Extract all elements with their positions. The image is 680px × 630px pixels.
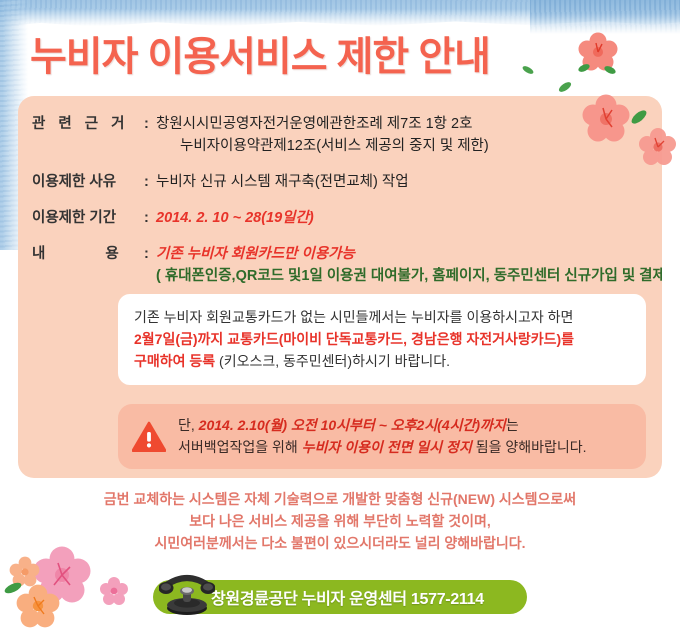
row-value-legal-basis: 창원시시민공영자전거운영에관한조례 제7조 1항 2호 누비자이용약관제12조(… — [156, 113, 489, 157]
warning-line1-date: 2014. 2.10(월) 오전 10시부터 ~ 오후2시(4시간)까지 — [199, 417, 506, 433]
telephone-icon — [159, 570, 215, 618]
warning-line1-suffix: 는 — [506, 417, 519, 433]
info-row-legal-basis: 관 련 근 거 : 창원시시민공영자전거운영에관한조례 제7조 1항 2호 누비… — [18, 113, 662, 157]
row-colon: : — [144, 113, 156, 135]
warning-box: 단, 2014. 2.10(월) 오전 10시부터 ~ 오후2시(4시간)까지는… — [118, 404, 646, 469]
white-box-line3-highlight: 구매하여 등록 — [134, 353, 215, 369]
warning-triangle-icon — [132, 421, 166, 452]
row-label-content: 내용 — [18, 243, 144, 265]
warning-text: 단, 2014. 2.10(월) 오전 10시부터 ~ 오후2시(4시간)까지는… — [178, 414, 587, 458]
cherry-blossom-icon — [575, 30, 621, 76]
cherry-blossom-icon — [8, 556, 42, 590]
leaf-icon — [2, 578, 24, 598]
warning-line2-highlight: 누비자 이용이 전면 일시 정지 — [302, 439, 472, 455]
closing-message-line3: 시민여러분께서는 다소 불편이 있으시더라도 널리 양해바랍니다. — [0, 532, 680, 554]
cherry-blossom-icon — [14, 584, 62, 630]
content-line2: ( 휴대폰인증,QR코드 및1일 이용권 대여불가, 홈페이지, 동주민센터 신… — [156, 265, 662, 287]
watercolor-top-border — [0, 0, 680, 26]
watercolor-right-border — [530, 0, 680, 34]
content-label-head: 내 — [32, 246, 45, 262]
white-box-line3: 구매하여 등록 (키오스크, 동주민센터)하시기 바랍니다. — [134, 350, 630, 372]
cherry-blossom-icon — [30, 545, 94, 609]
row-value-content: 기존 누비자 회원카드만 이용가능 ( 휴대폰인증,QR코드 및1일 이용권 대… — [156, 243, 662, 287]
notice-panel: 관 련 근 거 : 창원시시민공영자전거운영에관한조례 제7조 1항 2호 누비… — [18, 96, 662, 478]
legal-basis-line2: 누비자이용약관제12조(서비스 제공의 중지 및 제한) — [156, 135, 489, 157]
white-box-line1: 기존 누비자 회원교통카드가 없는 시민들께서는 누비자를 이용하시고자 하면 — [134, 306, 630, 328]
page-title: 누비자 이용서비스 제한 안내 — [30, 24, 490, 82]
warning-line2-prefix: 서버백업작업을 위해 — [178, 439, 302, 455]
contact-footer-text: 창원경륜공단 누비자 운영센터 1577-2114 — [211, 585, 484, 609]
closing-message-line2: 보다 나은 서비스 제공을 위해 부단히 노력할 것이며, — [0, 510, 680, 532]
row-label-reason: 이용제한 사유 — [18, 171, 144, 193]
row-colon: : — [144, 207, 156, 229]
leaf-icon — [520, 62, 536, 78]
row-value-period: 2014. 2. 10 ~ 28(19일간) — [156, 207, 314, 229]
row-label-legal-basis: 관 련 근 거 — [18, 113, 144, 135]
warning-line2-suffix: 됨을 양해바랍니다. — [472, 439, 587, 455]
info-row-reason: 이용제한 사유 : 누비자 신규 시스템 재구축(전면교체) 작업 — [18, 171, 662, 193]
info-row-content: 내용 : 기존 누비자 회원카드만 이용가능 ( 휴대폰인증,QR코드 및1일 … — [18, 243, 662, 287]
legal-basis-line1: 창원시시민공영자전거운영에관한조례 제7조 1항 2호 — [156, 116, 472, 132]
contact-footer-banner[interactable]: 창원경륜공단 누비자 운영센터 1577-2114 — [153, 580, 527, 614]
warning-line2: 서버백업작업을 위해 누비자 이용이 전면 일시 정지 됨을 양해바랍니다. — [178, 436, 587, 458]
white-box-line2: 2월7일(금)까지 교통카드(마이비 단독교통카드, 경남은행 자전거사랑카드)… — [134, 328, 630, 350]
closing-message-line1: 금번 교체하는 시스템은 자체 기술력으로 개발한 맞춤형 신규(NEW) 시스… — [0, 488, 680, 510]
cherry-blossom-icon — [98, 576, 130, 608]
info-white-box: 기존 누비자 회원교통카드가 없는 시민들께서는 누비자를 이용하시고자 하면 … — [118, 294, 646, 385]
closing-message: 금번 교체하는 시스템은 자체 기술력으로 개발한 맞춤형 신규(NEW) 시스… — [0, 488, 680, 554]
content-label-tail: 용 — [105, 246, 118, 262]
row-value-reason: 누비자 신규 시스템 재구축(전면교체) 작업 — [156, 171, 409, 193]
leaf-icon — [556, 78, 574, 96]
info-row-period: 이용제한 기간 : 2014. 2. 10 ~ 28(19일간) — [18, 207, 662, 229]
row-colon: : — [144, 171, 156, 193]
warning-line1: 단, 2014. 2.10(월) 오전 10시부터 ~ 오후2시(4시간)까지는 — [178, 414, 587, 436]
content-line1: 기존 누비자 회원카드만 이용가능 — [156, 246, 355, 262]
info-rows: 관 련 근 거 : 창원시시민공영자전거운영에관한조례 제7조 1항 2호 누비… — [18, 96, 662, 287]
row-label-period: 이용제한 기간 — [18, 207, 144, 229]
warning-line1-prefix: 단, — [178, 417, 199, 433]
white-box-line3-rest: (키오스크, 동주민센터)하시기 바랍니다. — [215, 353, 450, 369]
row-colon: : — [144, 243, 156, 265]
